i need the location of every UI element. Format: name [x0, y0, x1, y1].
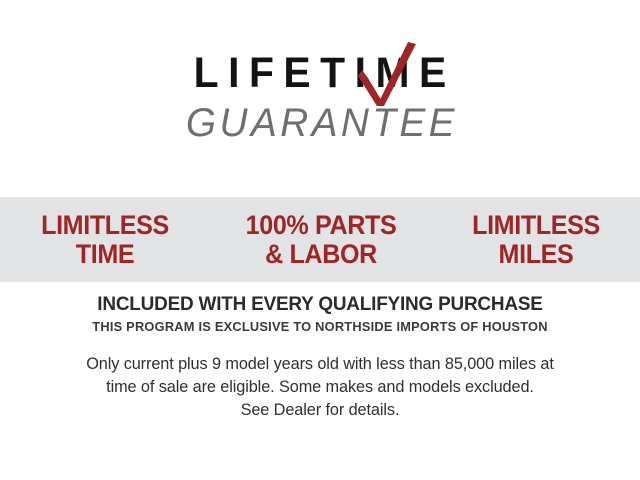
subheadline-text: THIS PROGRAM IS EXCLUSIVE TO NORTHSIDE I… — [10, 318, 631, 336]
feature-line-2: TIME — [7, 240, 202, 269]
feature-line-2: MILES — [439, 240, 632, 269]
disclosure-block: INCLUDED WITH EVERY QUALIFYING PURCHASE … — [0, 293, 640, 422]
feature-line-1: LIMITLESS — [472, 210, 600, 240]
headline-text: INCLUDED WITH EVERY QUALIFYING PURCHASE — [10, 293, 631, 316]
feature-column-parts-labor: 100% PARTS & LABOR — [218, 211, 424, 269]
feature-column-limitless-miles: LIMITLESS MILES — [439, 211, 632, 269]
feature-line-2: & LABOR — [218, 240, 424, 269]
feature-line-1: 100% PARTS — [246, 210, 397, 240]
feature-line-1: LIMITLESS — [41, 210, 169, 240]
lifetime-guarantee-advertisement: LIFETIME GUARANTEE LIMITLESS TIME 100% P… — [0, 0, 640, 480]
logo-guarantee-text: GUARANTEE — [10, 100, 631, 146]
fineprint-line: time of sale are eligible. Some makes an… — [34, 376, 606, 399]
fineprint-line: Only current plus 9 model years old with… — [34, 353, 606, 376]
logo-block: LIFETIME GUARANTEE — [0, 48, 640, 146]
feature-column-limitless-time: LIMITLESS TIME — [7, 211, 202, 269]
feature-band: LIMITLESS TIME 100% PARTS & LABOR LIMITL… — [0, 197, 640, 282]
fineprint-text: Only current plus 9 model years old with… — [34, 353, 606, 422]
logo-lifetime-text: LIFETIME — [184, 48, 456, 98]
fineprint-line: See Dealer for details. — [34, 399, 606, 422]
logo-lockup: LIFETIME — [177, 48, 463, 98]
